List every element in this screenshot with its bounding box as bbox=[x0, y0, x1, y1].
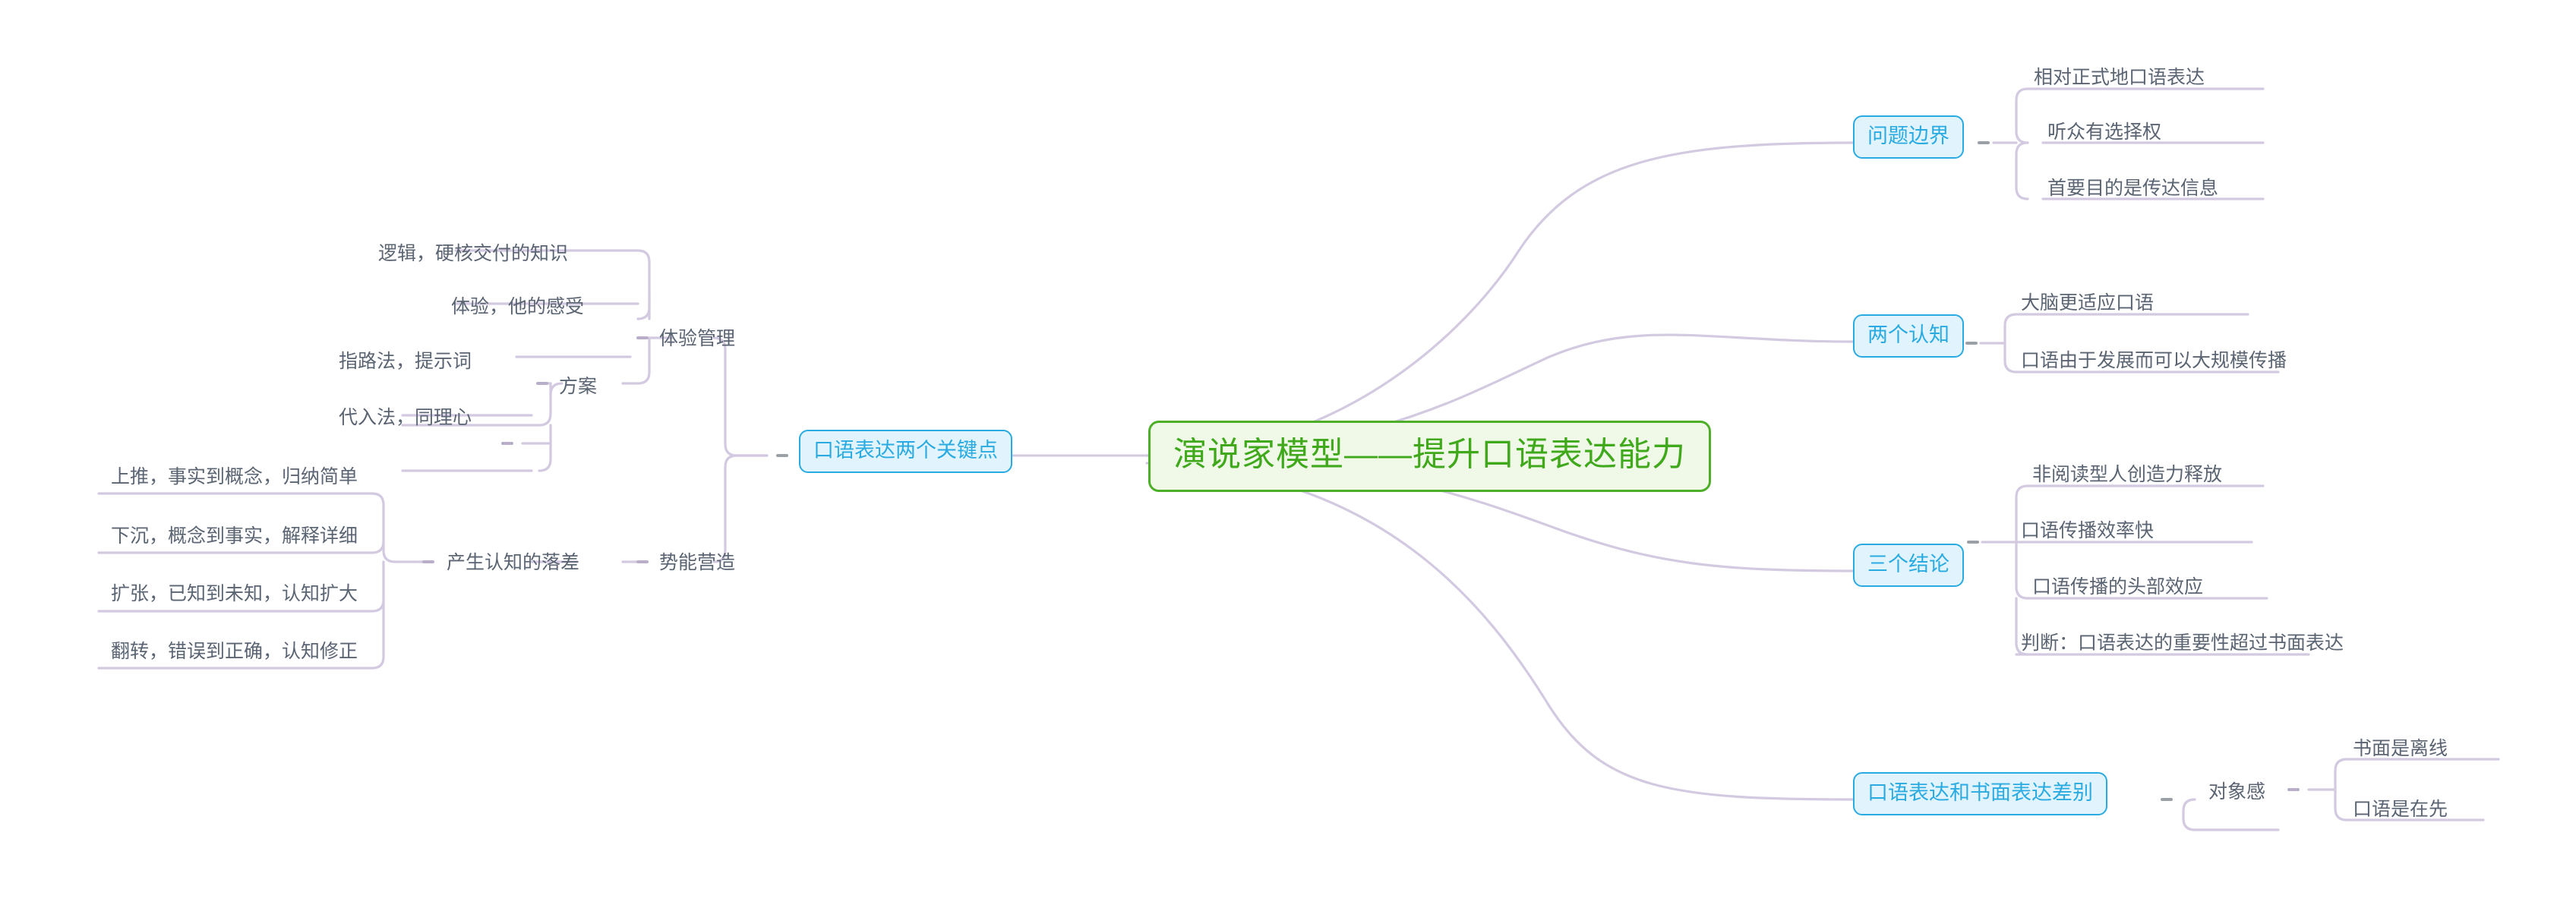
leaf-label: 口语传播的头部效应 bbox=[2032, 576, 2203, 598]
mindmap-canvas: 演说家模型——提升口语表达能力 口语表达两个关键点 体验管理 势能营造 逻辑，硬… bbox=[0, 0, 2576, 905]
node-cognitive-gap[interactable]: 产生认知的落差 bbox=[442, 550, 584, 577]
node-label: 产生认知的落差 bbox=[447, 552, 579, 573]
leaf-label: 代入法，同理心 bbox=[339, 407, 472, 428]
leaf-label: 扩张，已知到未知，认知扩大 bbox=[111, 583, 358, 604]
node-label: 势能营造 bbox=[659, 552, 735, 573]
leaf-label: 指路法，提示词 bbox=[339, 351, 472, 372]
branch-node-three-conclusions[interactable]: 三个结论 bbox=[1853, 544, 1964, 587]
leaf-label: 书面是离线 bbox=[2353, 738, 2448, 759]
leaf-speech-spread-efficiency[interactable]: 口语传播效率快 bbox=[2016, 519, 2158, 545]
node-potential-building[interactable]: 势能营造 bbox=[655, 550, 740, 577]
leaf-audience-has-choice[interactable]: 听众有选择权 bbox=[2043, 120, 2166, 147]
node-plan[interactable]: 方案 bbox=[554, 374, 601, 401]
branch-label: 问题边界 bbox=[1867, 125, 1949, 147]
leaf-label: 首要目的是传达信息 bbox=[2047, 178, 2218, 199]
branch-label: 三个结论 bbox=[1867, 553, 1949, 575]
leaf-judgement-speech-over-writing[interactable]: 判断：口语表达的重要性超过书面表达 bbox=[2016, 631, 2348, 657]
leaf-speech-head-effect[interactable]: 口语传播的头部效应 bbox=[2028, 575, 2208, 601]
branch-node-speech-vs-writing[interactable]: 口语表达和书面表达差别 bbox=[1853, 772, 2107, 815]
leaf-reverse-wrong-to-right[interactable]: 翻转，错误到正确，认知修正 bbox=[106, 639, 362, 666]
leaf-label: 非阅读型人创造力释放 bbox=[2032, 464, 2222, 485]
leaf-label: 口语传播效率快 bbox=[2021, 520, 2154, 541]
leaf-label: 翻转，错误到正确，认知修正 bbox=[111, 641, 358, 662]
leaf-writing-is-offline[interactable]: 书面是离线 bbox=[2348, 736, 2452, 763]
leaf-label: 判断：口语表达的重要性超过书面表达 bbox=[2021, 632, 2344, 654]
leaf-upward-fact-to-concept[interactable]: 上推，事实到概念，归纳简单 bbox=[106, 465, 362, 491]
leaf-speech-is-first[interactable]: 口语是在先 bbox=[2348, 797, 2452, 824]
leaf-label: 口语由于发展而可以大规模传播 bbox=[2021, 350, 2287, 371]
node-label: 对象感 bbox=[2208, 781, 2265, 803]
connector-dash-speech-first bbox=[2287, 788, 2300, 791]
leaf-label: 大脑更适应口语 bbox=[2021, 292, 2154, 314]
leaf-label: 相对正式地口语表达 bbox=[2034, 67, 2205, 88]
branch-node-problem-boundary[interactable]: 问题边界 bbox=[1853, 115, 1964, 159]
connector-dash-potential bbox=[636, 560, 649, 563]
connector-dash-difference bbox=[2161, 798, 2173, 801]
leaf-speech-mass-propagation[interactable]: 口语由于发展而可以大规模传播 bbox=[2016, 348, 2291, 375]
leaf-label: 体验，他的感受 bbox=[451, 296, 584, 317]
node-label: 方案 bbox=[559, 376, 597, 397]
root-node[interactable]: 演说家模型——提升口语表达能力 bbox=[1148, 421, 1711, 492]
connector-dash-boundary bbox=[1978, 141, 1990, 144]
leaf-label: 听众有选择权 bbox=[2047, 121, 2161, 143]
leaf-nonreader-creativity[interactable]: 非阅读型人创造力释放 bbox=[2028, 462, 2227, 489]
leaf-substitution-empathy[interactable]: 代入法，同理心 bbox=[334, 405, 476, 432]
root-label: 演说家模型——提升口语表达能力 bbox=[1173, 436, 1686, 473]
connector-dash-plan bbox=[536, 382, 548, 385]
node-sense-of-audience[interactable]: 对象感 bbox=[2204, 780, 2270, 806]
leaf-downward-concept-to-fact[interactable]: 下沉，概念到事实，解释详细 bbox=[106, 524, 362, 550]
leaf-label: 下沉，概念到事实，解释详细 bbox=[111, 525, 358, 547]
connector-dash-cognitions bbox=[1965, 342, 1978, 345]
node-label: 体验管理 bbox=[659, 328, 735, 349]
branch-label: 口语表达两个关键点 bbox=[813, 439, 998, 462]
connector-dash-left-root bbox=[776, 454, 788, 457]
leaf-relatively-formal-speech[interactable]: 相对正式地口语表达 bbox=[2029, 65, 2209, 92]
leaf-primary-goal-convey-info[interactable]: 首要目的是传达信息 bbox=[2043, 176, 2223, 203]
leaf-expand-known-to-unknown[interactable]: 扩张，已知到未知，认知扩大 bbox=[106, 582, 362, 608]
leaf-logic-hardcore-knowledge[interactable]: 逻辑，硬核交付的知识 bbox=[374, 241, 573, 268]
leaf-guide-method-prompt[interactable]: 指路法，提示词 bbox=[334, 349, 476, 376]
branch-label: 口语表达和书面表达差别 bbox=[1867, 781, 2093, 804]
node-experience-management[interactable]: 体验管理 bbox=[655, 326, 740, 353]
connector-dash-gap bbox=[422, 560, 434, 563]
branch-label: 两个认知 bbox=[1867, 323, 1949, 346]
connector-dash-experience bbox=[636, 336, 649, 339]
leaf-label: 上推，事实到概念，归纳简单 bbox=[111, 466, 358, 487]
connector-dash-substitution bbox=[501, 442, 513, 445]
connector-dash-conclusions bbox=[1967, 541, 1979, 544]
branch-node-two-cognitions[interactable]: 两个认知 bbox=[1853, 314, 1964, 358]
leaf-label: 口语是在先 bbox=[2353, 799, 2448, 820]
leaf-experience-his-feeling[interactable]: 体验，他的感受 bbox=[447, 295, 589, 321]
leaf-label: 逻辑，硬核交付的知识 bbox=[378, 243, 568, 264]
branch-node-left-key-points[interactable]: 口语表达两个关键点 bbox=[799, 430, 1012, 473]
leaf-brain-adapts-to-speech[interactable]: 大脑更适应口语 bbox=[2016, 291, 2158, 317]
